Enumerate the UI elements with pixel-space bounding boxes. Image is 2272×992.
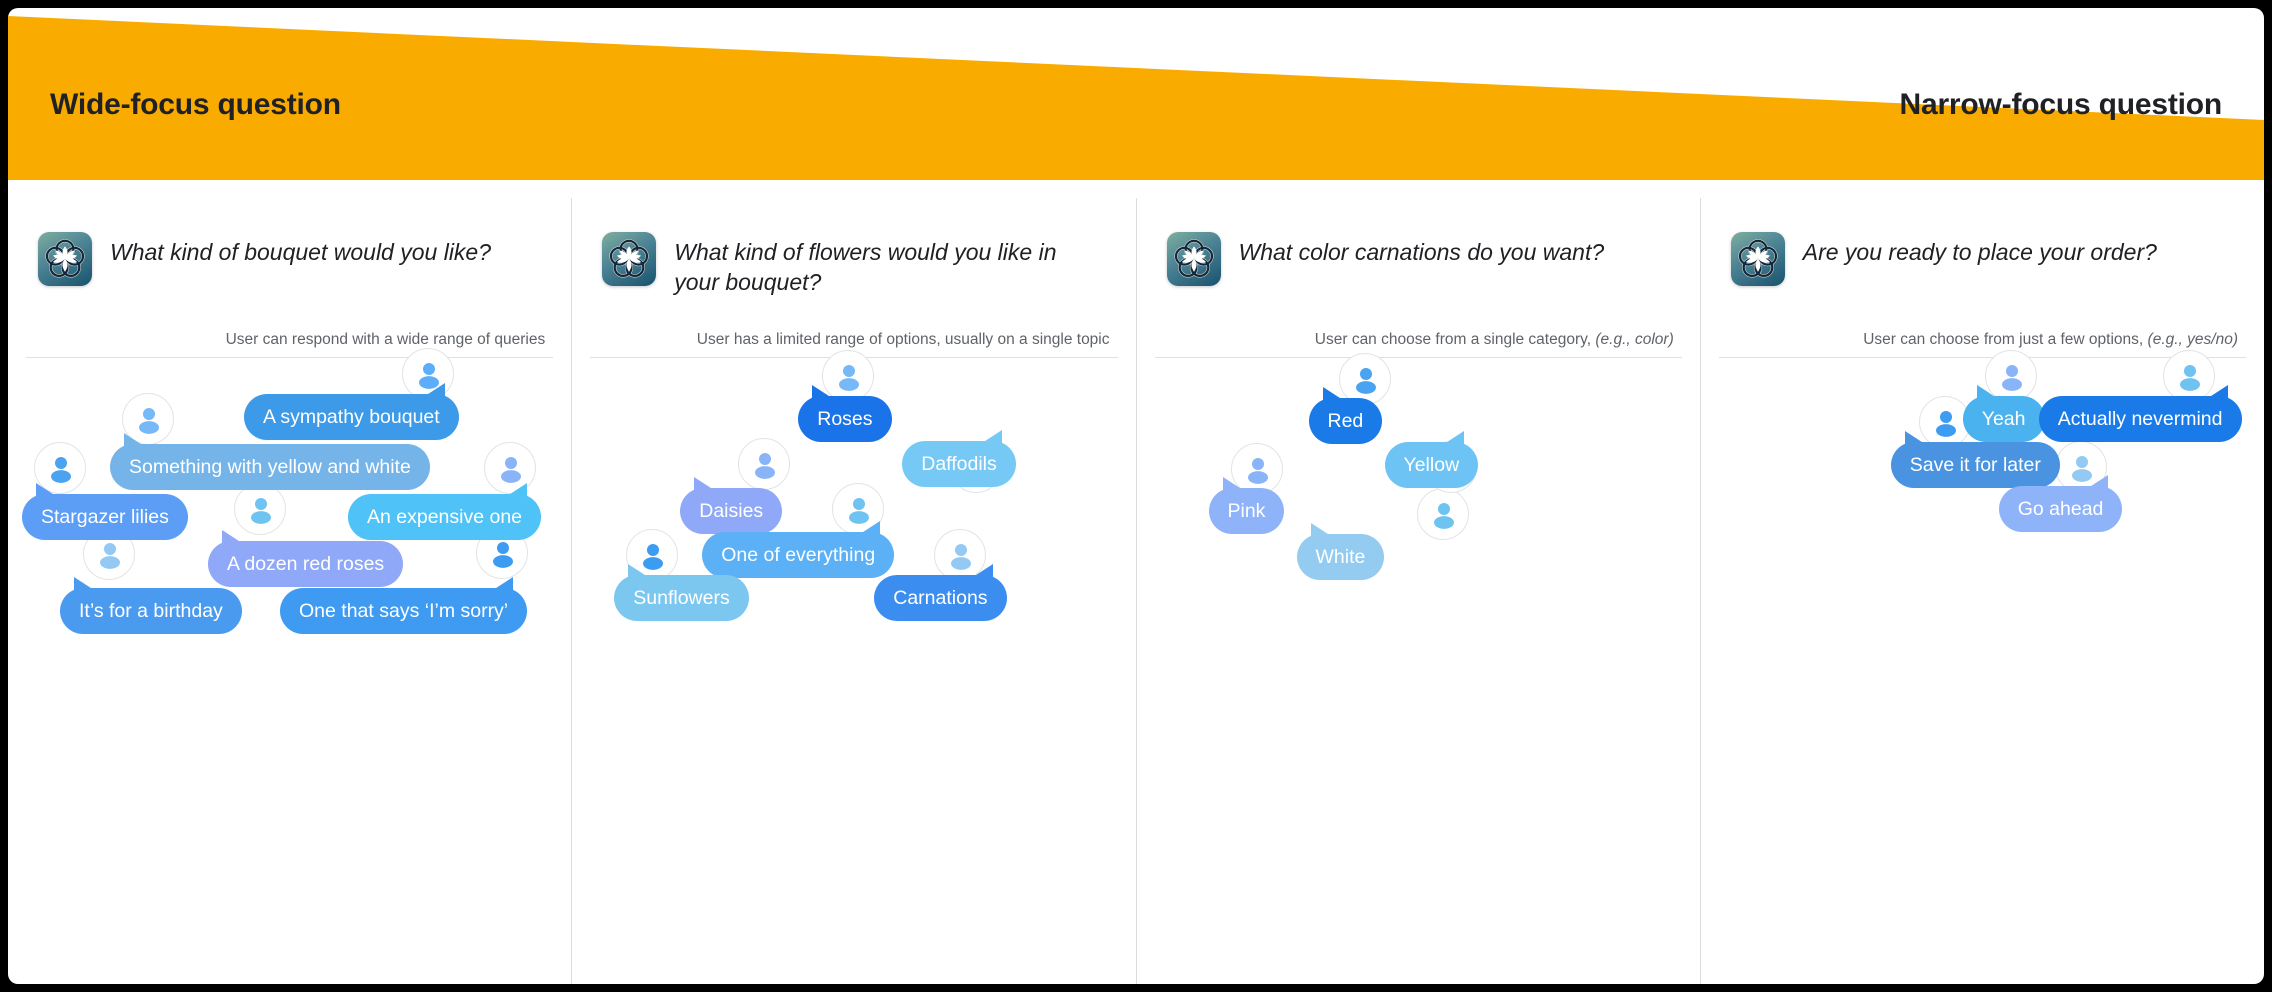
- response-bubble-label: Yeah: [1982, 408, 2026, 430]
- response-bubble[interactable]: Red: [1309, 398, 1383, 444]
- response-bubble-canvas: A sympathy bouquetSomething with yellow …: [8, 198, 571, 984]
- response-bubble[interactable]: Actually nevermind: [2039, 396, 2242, 442]
- response-bubble-label: It’s for a birthday: [79, 600, 223, 622]
- narrow-focus-label: Narrow-focus question: [1900, 88, 2223, 122]
- response-bubble-label: White: [1316, 546, 1366, 568]
- user-avatar: [234, 483, 286, 535]
- response-bubble[interactable]: Stargazer lilies: [22, 494, 188, 540]
- question-column-2: What kind of flowers would you like in y…: [571, 198, 1135, 984]
- response-bubble-label: Pink: [1228, 500, 1266, 522]
- response-bubble-label: One of everything: [721, 544, 875, 566]
- response-bubble[interactable]: An expensive one: [348, 494, 541, 540]
- response-bubble[interactable]: Roses: [798, 396, 891, 442]
- response-bubble-label: Roses: [817, 408, 872, 430]
- response-bubble[interactable]: Yellow: [1385, 442, 1479, 488]
- response-bubble-label: Something with yellow and white: [129, 456, 411, 478]
- response-bubble-label: Daffodils: [921, 453, 997, 475]
- response-bubble-label: Carnations: [893, 587, 987, 609]
- response-bubble[interactable]: White: [1297, 534, 1385, 580]
- response-bubble-canvas: YeahActually nevermindSave it for laterG…: [1701, 198, 2264, 984]
- response-bubble[interactable]: A sympathy bouquet: [244, 394, 459, 440]
- response-bubble-label: Sunflowers: [633, 587, 729, 609]
- response-bubble-canvas: RosesDaffodilsDaisiesOne of everythingSu…: [572, 198, 1135, 984]
- response-bubble[interactable]: Carnations: [874, 575, 1006, 621]
- response-bubble[interactable]: One that says ‘I’m sorry’: [280, 588, 527, 634]
- response-bubble[interactable]: Sunflowers: [614, 575, 748, 621]
- response-bubble[interactable]: One of everything: [702, 532, 894, 578]
- response-bubble-canvas: RedYellowPinkWhite: [1137, 198, 1700, 984]
- question-column-4: Are you ready to place your order? User …: [1700, 198, 2264, 984]
- user-avatar: [1417, 488, 1469, 540]
- question-column-3: What color carnations do you want? User …: [1136, 198, 1700, 984]
- response-bubble[interactable]: It’s for a birthday: [60, 588, 242, 634]
- header-band: Wide-focus question Narrow-focus questio…: [8, 8, 2264, 198]
- response-bubble-label: Save it for later: [1910, 454, 2041, 476]
- response-bubble-label: An expensive one: [367, 506, 522, 528]
- response-bubble[interactable]: Save it for later: [1891, 442, 2060, 488]
- columns-container: What kind of bouquet would you like? Use…: [8, 198, 2264, 984]
- response-bubble-label: Stargazer lilies: [41, 506, 169, 528]
- response-bubble[interactable]: Something with yellow and white: [110, 444, 430, 490]
- response-bubble[interactable]: A dozen red roses: [208, 541, 403, 587]
- response-bubble[interactable]: Pink: [1209, 488, 1285, 534]
- page-frame: Wide-focus question Narrow-focus questio…: [8, 8, 2264, 984]
- response-bubble-label: Red: [1328, 410, 1364, 432]
- response-bubble-label: Yellow: [1404, 454, 1460, 476]
- response-bubble-label: A sympathy bouquet: [263, 406, 440, 428]
- user-avatar: [738, 438, 790, 490]
- response-bubble-label: Actually nevermind: [2058, 408, 2223, 430]
- response-bubble-label: Daisies: [699, 500, 763, 522]
- response-bubble[interactable]: Go ahead: [1999, 486, 2123, 532]
- question-column-1: What kind of bouquet would you like? Use…: [8, 198, 571, 984]
- response-bubble-label: A dozen red roses: [227, 553, 384, 575]
- response-bubble-label: One that says ‘I’m sorry’: [299, 600, 508, 622]
- response-bubble[interactable]: Yeah: [1963, 396, 2045, 442]
- wide-focus-label: Wide-focus question: [50, 88, 341, 122]
- response-bubble[interactable]: Daffodils: [902, 441, 1016, 487]
- response-bubble-label: Go ahead: [2018, 498, 2104, 520]
- response-bubble[interactable]: Daisies: [680, 488, 782, 534]
